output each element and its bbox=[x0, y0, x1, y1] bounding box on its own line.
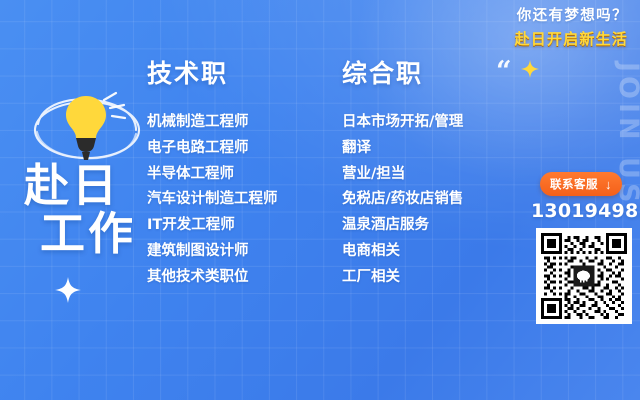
contact-service-button[interactable]: 联系客服 ↓ bbox=[540, 172, 622, 196]
list-item: 汽车设计制造工程师 bbox=[147, 187, 278, 213]
headline-block: 你还有梦想吗？ 赴日开启新生活 bbox=[515, 6, 628, 50]
qr-code-icon[interactable] bbox=[536, 228, 632, 324]
headline-line-1: 你还有梦想吗？ bbox=[515, 6, 628, 26]
poster-canvas: JOIN US 你还有梦想吗？ 赴日开启新生活 “ bbox=[0, 0, 640, 400]
column-general: 综合职 日本市场开拓/管理 翻译 营业/担当 免税店/药妆店销售 温泉酒店服务 … bbox=[342, 60, 463, 291]
list-item: 翻译 bbox=[342, 136, 463, 162]
list-item: 电子电路工程师 bbox=[147, 136, 278, 162]
arrow-down-icon: ↓ bbox=[605, 178, 612, 191]
list-item: 半导体工程师 bbox=[147, 162, 278, 188]
brand-line-2: 工作 bbox=[40, 210, 136, 258]
quote-mark: “ bbox=[496, 58, 511, 85]
column-general-title: 综合职 bbox=[342, 60, 463, 88]
headline-line-2: 赴日开启新生活 bbox=[515, 28, 628, 50]
list-item: 工厂相关 bbox=[342, 265, 463, 291]
list-item: 其他技术类职位 bbox=[147, 265, 278, 291]
contact-service-label: 联系客服 bbox=[550, 176, 598, 192]
list-item: 机械制造工程师 bbox=[147, 110, 278, 136]
column-technical: 技术职 机械制造工程师 电子电路工程师 半导体工程师 汽车设计制造工程师 IT开… bbox=[147, 60, 278, 291]
brand-line-1: 赴日 bbox=[24, 159, 120, 212]
list-item: 温泉酒店服务 bbox=[342, 213, 463, 239]
column-technical-title: 技术职 bbox=[147, 60, 278, 88]
list-item: 免税店/药妆店销售 bbox=[342, 187, 463, 213]
list-item: 营业/担当 bbox=[342, 162, 463, 188]
list-item: 日本市场开拓/管理 bbox=[342, 110, 463, 136]
sparkle-yellow-icon bbox=[521, 60, 539, 78]
sparkle-white-icon bbox=[55, 277, 81, 303]
column-technical-list: 机械制造工程师 电子电路工程师 半导体工程师 汽车设计制造工程师 IT开发工程师… bbox=[147, 110, 278, 291]
phone-number[interactable]: 13019498186 bbox=[531, 200, 635, 222]
list-item: IT开发工程师 bbox=[147, 213, 278, 239]
brand-wordmark: 赴日 工作 bbox=[24, 162, 136, 258]
column-general-list: 日本市场开拓/管理 翻译 营业/担当 免税店/药妆店销售 温泉酒店服务 电商相关… bbox=[342, 110, 463, 291]
list-item: 建筑制图设计师 bbox=[147, 239, 278, 265]
list-item: 电商相关 bbox=[342, 239, 463, 265]
